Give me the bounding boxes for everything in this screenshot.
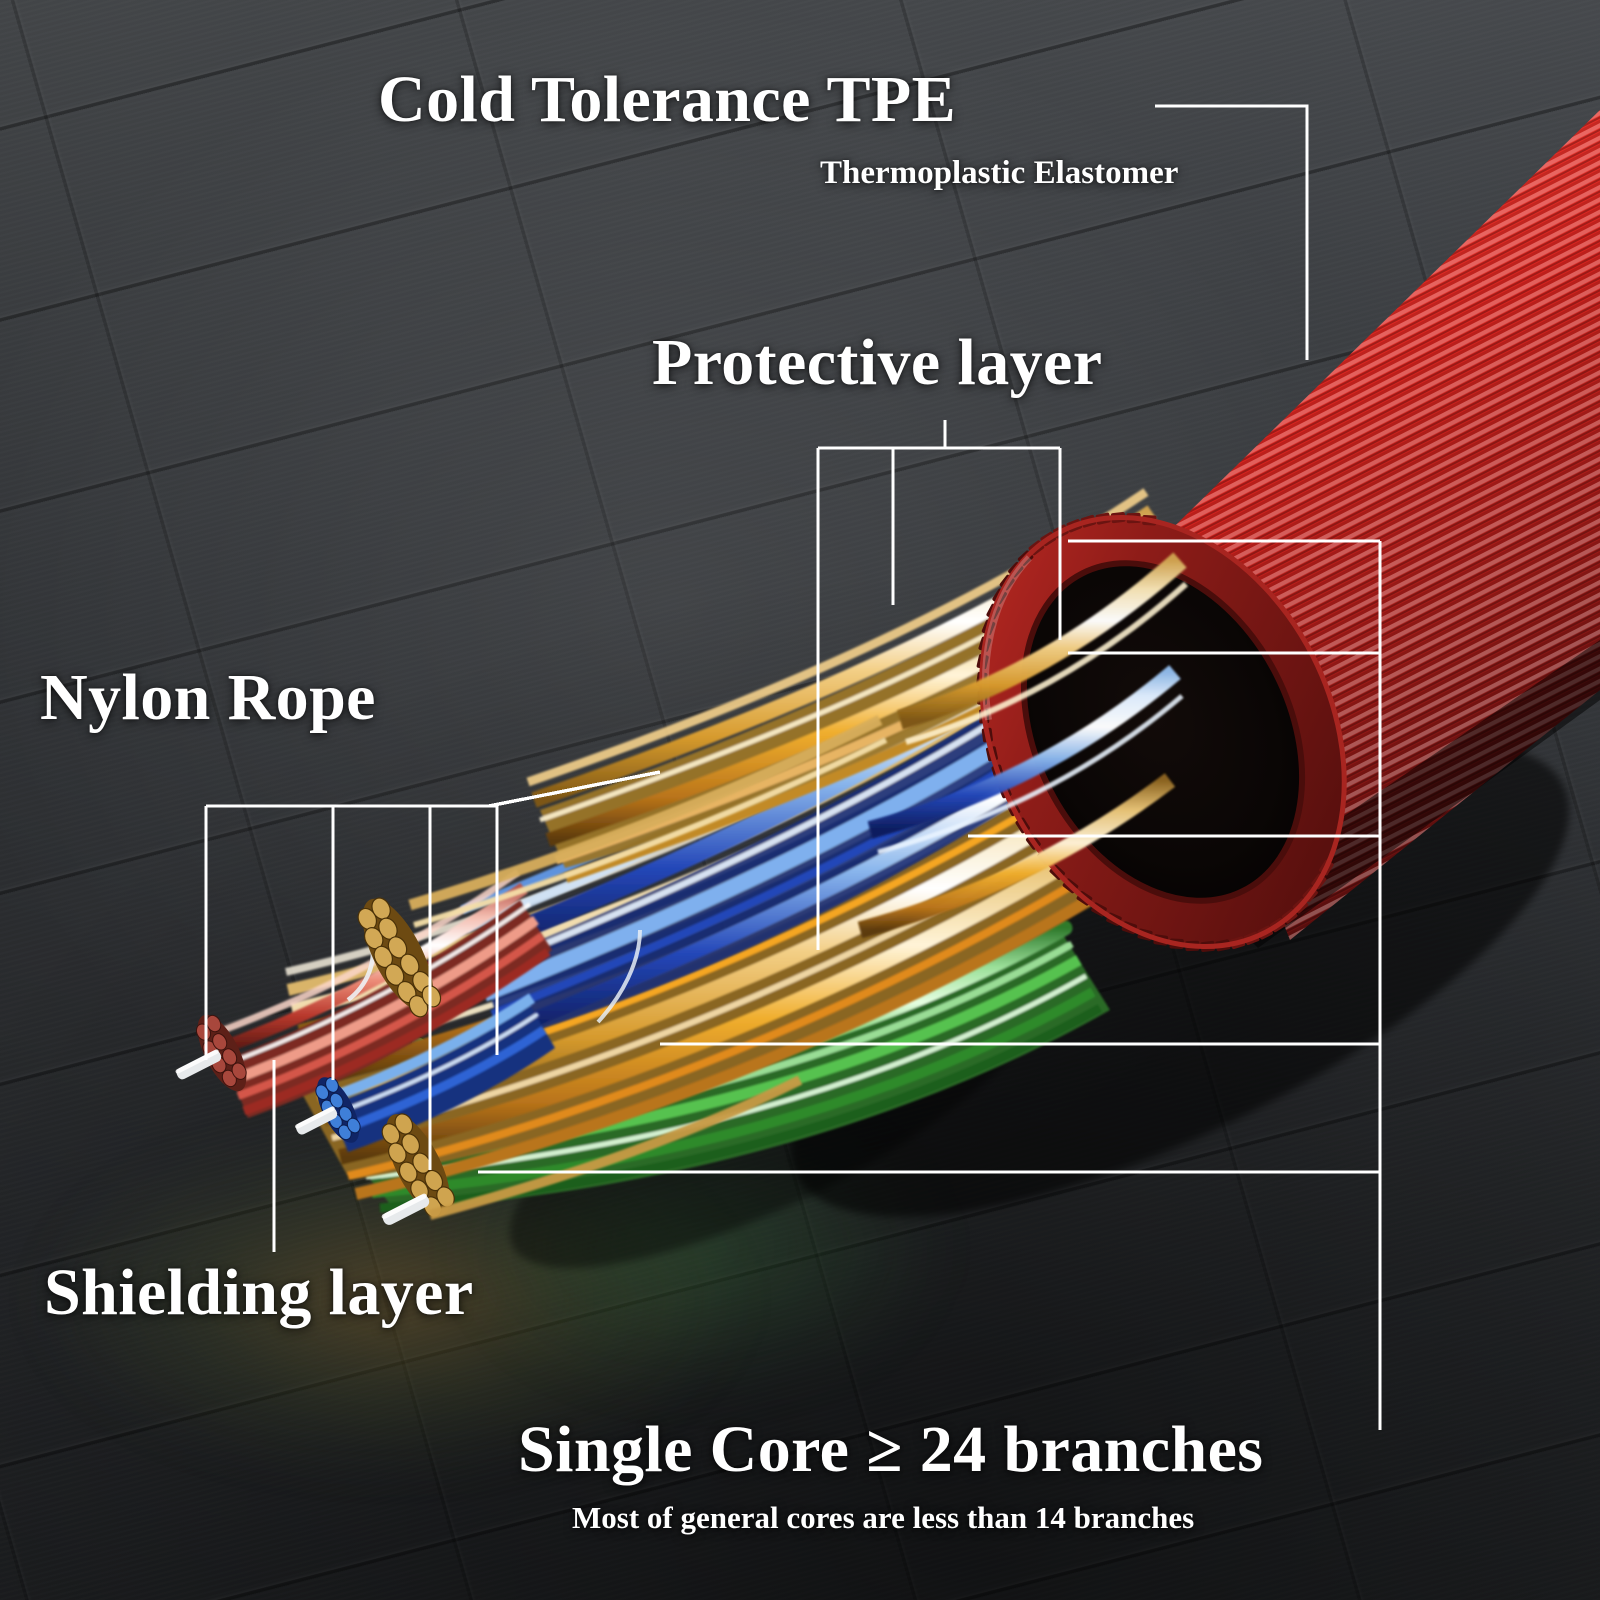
callout-line-tpe xyxy=(1155,106,1307,360)
label-single-core: Single Core ≥ 24 branches xyxy=(518,1412,1263,1488)
cable-cutaway-infographic: Cold Tolerance TPE Thermoplastic Elastom… xyxy=(0,0,1600,1600)
label-protective-layer: Protective layer xyxy=(652,325,1102,401)
label-nylon-rope: Nylon Rope xyxy=(40,660,376,736)
label-cold-tolerance-tpe: Cold Tolerance TPE xyxy=(378,62,956,138)
label-single-core-subtitle: Most of general cores are less than 14 b… xyxy=(572,1500,1194,1536)
cable-illustration xyxy=(0,0,1600,1600)
label-thermoplastic-elastomer: Thermoplastic Elastomer xyxy=(820,155,1178,192)
label-shielding-layer: Shielding layer xyxy=(44,1255,474,1331)
